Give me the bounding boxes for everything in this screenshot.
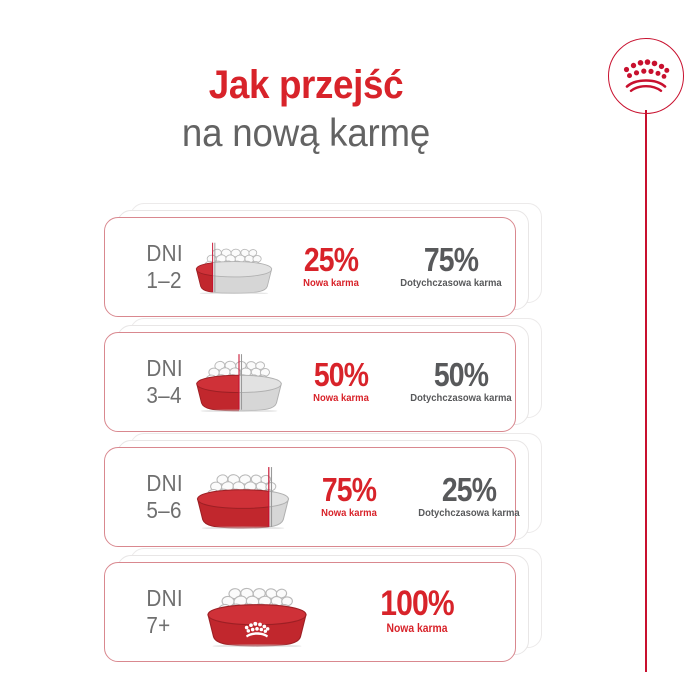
transition-schedule: DNI 1–2 2 [0,0,700,700]
old-food-label: Dotychczasowa karma [402,391,521,407]
day-range-label: DNI 5–6 [105,470,182,523]
new-food-label: Nowa karma [292,391,389,407]
days-range: 7+ [146,612,170,638]
days-word: DNI [146,355,182,381]
dog-bowl-icon [201,578,313,647]
bowl-illustration [191,333,287,431]
percentages-group: 75% Nowa karma 25% Dotychczasowa karma [295,473,541,522]
old-food-label: Dotychczasowa karma [410,506,529,522]
old-food-percentage: 75% Dotychczasowa karma [385,243,517,292]
new-food-percentage: 25% Nowa karma [277,243,385,292]
days-word: DNI [146,585,182,611]
dog-bowl-icon [191,352,287,412]
new-food-percentage: 100% Nowa karma [337,586,497,638]
dog-bowl-icon [191,465,295,529]
new-food-percentage: 75% Nowa karma [295,473,403,522]
new-food-value: 100% [348,586,486,621]
bowl-illustration [191,448,295,546]
new-food-value: 25% [285,243,378,276]
new-food-value: 75% [303,473,396,506]
old-food-value: 25% [412,473,526,506]
days-range: 1–2 [146,267,181,293]
card-front-panel[interactable]: DNI 1–2 2 [104,217,516,317]
new-food-label: Nowa karma [300,506,397,522]
old-food-percentage: 25% Dotychczasowa karma [403,473,535,522]
old-food-label: Dotychczasowa karma [392,276,511,292]
card-front-panel[interactable]: DNI 3–4 5 [104,332,516,432]
old-food-value: 75% [394,243,508,276]
days-range: 3–4 [146,382,181,408]
old-food-percentage: 50% Dotychczasowa karma [395,358,527,407]
new-food-value: 50% [295,358,388,391]
old-food-value: 50% [404,358,518,391]
day-range-label: DNI 7+ [105,585,182,638]
card-front-panel[interactable]: DNI 5–6 7 [104,447,516,547]
new-food-label: Nowa karma [282,276,379,292]
percentages-group: 50% Nowa karma 50% Dotychczasowa karma [287,358,533,407]
card-front-panel[interactable]: DNI 7+ [104,562,516,662]
days-range: 5–6 [146,497,181,523]
days-word: DNI [146,240,182,266]
new-food-percentage: 50% Nowa karma [287,358,395,407]
bowl-illustration [191,218,277,316]
days-word: DNI [146,470,182,496]
percentages-group: 100% Nowa karma [323,586,515,638]
dog-bowl-icon [191,241,277,294]
bowl-illustration [191,563,323,661]
percentages-group: 25% Nowa karma 75% Dotychczasowa karma [277,243,523,292]
day-range-label: DNI 1–2 [105,240,182,293]
day-range-label: DNI 3–4 [105,355,182,408]
new-food-label: Nowa karma [345,621,489,638]
